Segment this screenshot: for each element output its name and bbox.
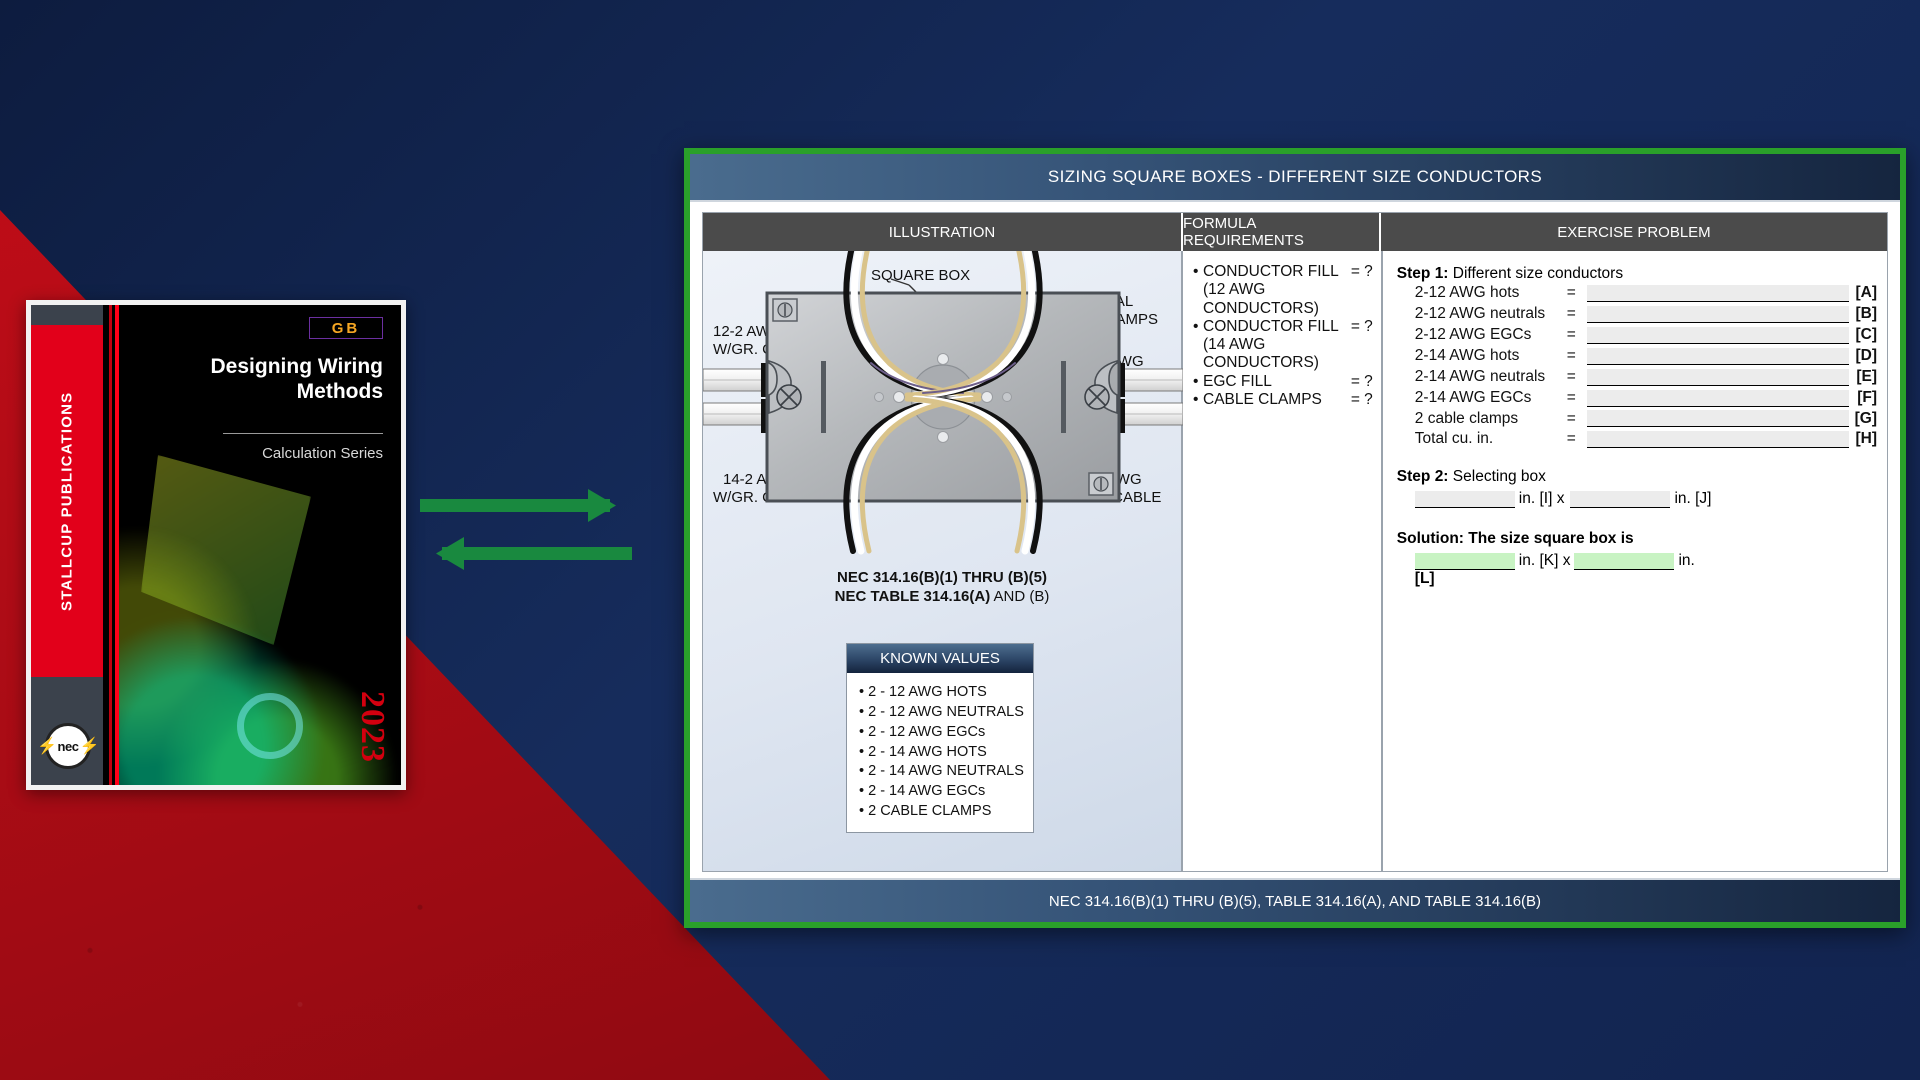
known-values-header: KNOWN VALUES (847, 644, 1033, 673)
formula-subnote: (12 AWG CONDUCTORS) (1193, 281, 1373, 318)
exercise-solution-row: in. [K] x in. (1397, 552, 1877, 570)
illustration-nec-reference: NEC 314.16(B)(1) THRU (B)(5) NEC TABLE 3… (703, 569, 1181, 607)
formula-label: EGC FILL (1203, 373, 1339, 391)
answer-blank-k[interactable] (1415, 553, 1515, 570)
list-item: • 2 - 14 AWG HOTS (859, 743, 1033, 763)
answer-blank-d[interactable] (1587, 348, 1849, 365)
formula-requirements-column: • CONDUCTOR FILL = ? (12 AWG CONDUCTORS)… (1183, 251, 1383, 871)
book-year: 2023 (353, 691, 391, 763)
formula-label: CABLE CLAMPS (1203, 391, 1339, 409)
row-label: 2-14 AWG hots (1415, 346, 1567, 367)
table-row: 2-12 AWG hots = [A] (1397, 283, 1877, 304)
book-title-line2: Methods (163, 380, 383, 405)
exercise-problem-column: Step 1: Different size conductors 2-12 A… (1383, 251, 1887, 871)
list-item: • 2 - 12 AWG NEUTRALS (859, 703, 1033, 723)
solution-tag: [L] (1397, 570, 1877, 588)
content-panel: ILLUSTRATION FORMULA REQUIREMENTS EXERCI… (702, 212, 1888, 872)
formula-label: CONDUCTOR FILL (1203, 318, 1339, 336)
table-row: 2-12 AWG EGCs = [C] (1397, 325, 1877, 346)
row-label: 2 cable clamps (1415, 409, 1567, 430)
row-tag: [A] (1853, 283, 1877, 304)
book-cover[interactable]: STALLCUP PUBLICATIONS ⚡nec⚡ GB Designing… (26, 300, 406, 790)
solution-unit-b: in. (1678, 552, 1694, 570)
row-label: 2-14 AWG neutrals (1415, 367, 1567, 388)
table-row: Total cu. in. = [H] (1397, 429, 1877, 450)
list-item: • 2 - 14 AWG EGCs (859, 782, 1033, 802)
known-values-box: KNOWN VALUES • 2 - 12 AWG HOTS • 2 - 12 … (846, 643, 1034, 833)
answer-blank-c[interactable] (1587, 327, 1849, 344)
book-subtitle: Calculation Series (163, 445, 383, 462)
answer-blank-l[interactable] (1574, 553, 1674, 570)
arrow-right-icon (420, 489, 616, 522)
step1-label: Step 1: (1397, 265, 1449, 282)
exercise-step1-heading: Step 1: Different size conductors (1397, 265, 1877, 283)
step2-text: Selecting box (1453, 468, 1546, 485)
cover-ring-art (237, 693, 303, 759)
row-tag: [C] (1853, 325, 1877, 346)
formula-item: • EGC FILL = ? (1193, 373, 1373, 391)
table-row: 2-14 AWG EGCs = [F] (1397, 388, 1877, 409)
gb-logo-icon: GB (309, 317, 383, 339)
equals-sign: = (1567, 367, 1585, 388)
formula-value: = ? (1339, 318, 1373, 336)
row-tag: [D] (1853, 346, 1877, 367)
row-tag: [F] (1853, 388, 1877, 409)
step1-text: Different size conductors (1453, 265, 1623, 282)
book-title-line1: Designing Wiring (163, 355, 383, 380)
slide-title: SIZING SQUARE BOXES - DIFFERENT SIZE CON… (690, 154, 1900, 202)
bullet-icon: • (1193, 373, 1203, 391)
answer-blank-b[interactable] (1587, 306, 1849, 323)
column-header-exercise: EXERCISE PROBLEM (1381, 213, 1887, 251)
nec-ref-line2: NEC TABLE 314.16(A) AND (B) (703, 588, 1181, 607)
row-label: 2-12 AWG hots (1415, 283, 1567, 304)
nec-logo-icon: ⚡nec⚡ (45, 723, 91, 769)
formula-subnote: (14 AWG CONDUCTORS) (1193, 336, 1373, 373)
cover-red-rule-1 (109, 305, 112, 785)
formula-value: = ? (1339, 263, 1373, 281)
step2-label: Step 2: (1397, 468, 1449, 485)
equals-sign: = (1567, 304, 1585, 325)
presentation-slide: SIZING SQUARE BOXES - DIFFERENT SIZE CON… (684, 148, 1906, 928)
equals-sign: = (1567, 388, 1585, 409)
answer-blank-f[interactable] (1587, 390, 1849, 407)
formula-item: • CABLE CLAMPS = ? (1193, 391, 1373, 409)
exercise-step2-heading: Step 2: Selecting box (1397, 468, 1877, 486)
list-item: • 2 - 12 AWG EGCs (859, 723, 1033, 743)
row-tag: [E] (1853, 367, 1877, 388)
solution-unit-a: in. [K] x (1519, 552, 1571, 570)
equals-sign: = (1567, 409, 1585, 430)
equals-sign: = (1567, 346, 1585, 367)
step2-unit-a: in. [I] x (1519, 490, 1565, 508)
list-item: • 2 - 12 AWG HOTS (859, 683, 1033, 703)
book-spine-text: STALLCUP PUBLICATIONS (31, 325, 103, 677)
answer-blank-j[interactable] (1570, 491, 1670, 508)
table-row: 2-14 AWG neutrals = [E] (1397, 367, 1877, 388)
column-headers: ILLUSTRATION FORMULA REQUIREMENTS EXERCI… (703, 213, 1887, 251)
formula-item: • CONDUCTOR FILL = ? (1193, 318, 1373, 336)
book-front-face: GB Designing Wiring Methods Calculation … (119, 305, 401, 785)
exercise-solution-heading: Solution: The size square box is (1397, 530, 1877, 548)
row-tag: [B] (1853, 304, 1877, 325)
bullet-icon: • (1193, 318, 1203, 336)
bullet-icon: • (1193, 391, 1203, 409)
table-row: 2-12 AWG neutrals = [B] (1397, 304, 1877, 325)
column-header-illustration: ILLUSTRATION (703, 213, 1183, 251)
equals-sign: = (1567, 429, 1585, 450)
solution-text: The size square box is (1468, 530, 1633, 547)
illustration-column: SQUARE BOX INTERNAL CABLE CLAMPS 12-2 AW… (703, 251, 1183, 871)
formula-item: • CONDUCTOR FILL = ? (1193, 263, 1373, 281)
answer-blank-g[interactable] (1587, 410, 1849, 427)
answer-blank-e[interactable] (1587, 369, 1849, 386)
row-label: 2-14 AWG EGCs (1415, 388, 1567, 409)
known-values-list: • 2 - 12 AWG HOTS • 2 - 12 AWG NEUTRALS … (847, 673, 1033, 832)
bullet-icon: • (1193, 263, 1203, 281)
equals-sign: = (1567, 325, 1585, 346)
formula-value: = ? (1339, 391, 1373, 409)
list-item: • 2 - 14 AWG NEUTRALS (859, 762, 1033, 782)
formula-value: = ? (1339, 373, 1373, 391)
exercise-step2-row: in. [I] x in. [J] (1397, 490, 1877, 508)
table-row: 2 cable clamps = [G] (1397, 409, 1877, 430)
answer-blank-h[interactable] (1587, 431, 1849, 448)
list-item: • 2 CABLE CLAMPS (859, 802, 1033, 822)
row-tag: [G] (1853, 409, 1877, 430)
row-tag: [H] (1853, 429, 1877, 450)
column-header-formula: FORMULA REQUIREMENTS (1183, 213, 1381, 251)
answer-blank-a[interactable] (1587, 285, 1849, 302)
equals-sign: = (1567, 283, 1585, 304)
exchange-arrows (420, 485, 670, 585)
row-label: Total cu. in. (1415, 429, 1567, 450)
formula-label: CONDUCTOR FILL (1203, 263, 1339, 281)
step2-unit-b: in. [J] (1674, 490, 1711, 508)
nec-ref-line1: NEC 314.16(B)(1) THRU (B)(5) (703, 569, 1181, 588)
slide-footer: NEC 314.16(B)(1) THRU (B)(5), TABLE 314.… (690, 878, 1900, 922)
book-title: Designing Wiring Methods (163, 355, 383, 405)
row-label: 2-12 AWG EGCs (1415, 325, 1567, 346)
answer-blank-i[interactable] (1415, 491, 1515, 508)
solution-label: Solution: (1397, 530, 1464, 547)
book-spine-top-band (31, 305, 103, 325)
cover-divider (223, 433, 383, 434)
arrow-left-icon (436, 537, 632, 570)
table-row: 2-14 AWG hots = [D] (1397, 346, 1877, 367)
row-label: 2-12 AWG neutrals (1415, 304, 1567, 325)
